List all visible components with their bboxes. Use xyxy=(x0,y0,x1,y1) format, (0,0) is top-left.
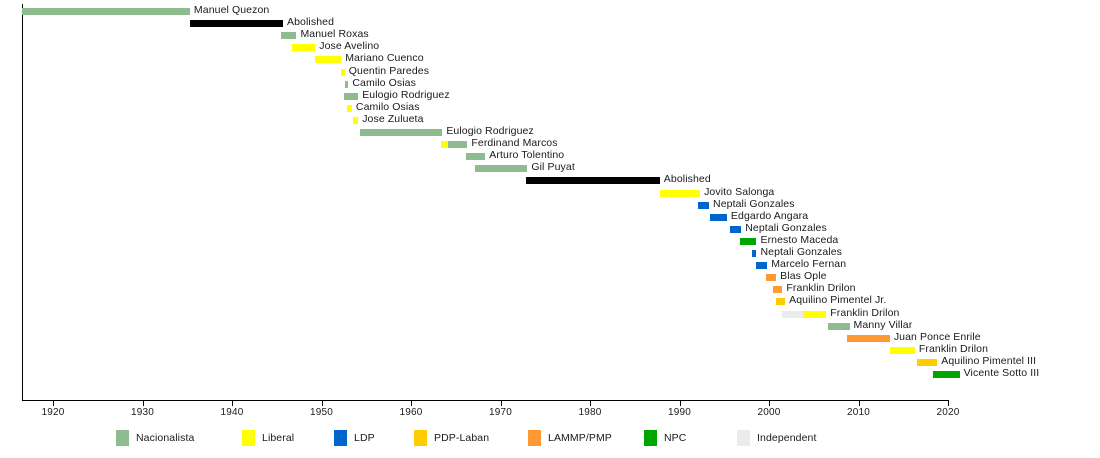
legend-item-liberal[interactable]: Liberal xyxy=(242,428,294,448)
timeline-row: Aquilino Pimentel III xyxy=(0,356,1100,368)
timeline-row-label: Mariano Cuenco xyxy=(345,52,423,64)
legend-color-swatch xyxy=(116,430,129,446)
timeline-row: Jose Avelino xyxy=(0,41,1100,53)
timeline-bar xyxy=(360,129,442,136)
timeline-row: Manuel Roxas xyxy=(0,29,1100,41)
legend-label: LDP xyxy=(354,432,375,444)
x-tick-1970 xyxy=(501,401,502,406)
legend-label: Liberal xyxy=(262,432,294,444)
timeline-row: Neptali Gonzales xyxy=(0,199,1100,211)
timeline-bar xyxy=(773,286,783,293)
timeline-row-label: Manuel Roxas xyxy=(300,28,368,40)
timeline-bar xyxy=(752,250,756,257)
legend-color-swatch xyxy=(242,430,255,446)
timeline-row-label: Jose Avelino xyxy=(319,40,379,52)
timeline-row: Gil Puyat xyxy=(0,162,1100,174)
legend-item-npc[interactable]: NPC xyxy=(644,428,686,448)
timeline-row: Camilo Osias xyxy=(0,78,1100,90)
timeline-bar xyxy=(526,177,659,184)
timeline-row-label: Juan Ponce Enrile xyxy=(894,331,981,343)
x-tick-label: 1980 xyxy=(578,407,601,418)
legend-color-swatch xyxy=(334,430,347,446)
timeline-row-label: Camilo Osias xyxy=(356,101,420,113)
timeline-bar xyxy=(756,262,767,269)
x-tick-1930 xyxy=(143,401,144,406)
timeline-row-label: Eulogio Rodriguez xyxy=(362,89,450,101)
timeline-row: Jovito Salonga xyxy=(0,187,1100,199)
timeline-row-label: Franklin Drilon xyxy=(830,307,899,319)
timeline-row-label: Quentin Paredes xyxy=(349,65,429,77)
timeline-row-label: Edgardo Angara xyxy=(731,210,808,222)
timeline-row-label: Blas Ople xyxy=(780,270,826,282)
x-tick-label: 1950 xyxy=(310,407,333,418)
timeline-row-label: Neptali Gonzales xyxy=(760,246,842,258)
legend-label: Nacionalista xyxy=(136,432,194,444)
timeline-bar xyxy=(828,323,849,330)
timeline-row-label: Abolished xyxy=(664,173,711,185)
x-tick-1980 xyxy=(590,401,591,406)
x-tick-2020 xyxy=(948,401,949,406)
timeline-row-label: Gil Puyat xyxy=(531,161,575,173)
timeline-bar xyxy=(890,347,915,354)
x-tick-label: 2000 xyxy=(757,407,780,418)
timeline-row-label: Ernesto Maceda xyxy=(760,234,838,246)
timeline-row: Manuel Quezon xyxy=(0,5,1100,17)
timeline-bar xyxy=(344,93,358,100)
x-tick-label: 1970 xyxy=(489,407,512,418)
timeline-bar xyxy=(740,238,756,245)
timeline-bar xyxy=(803,311,826,318)
timeline-bar xyxy=(730,226,742,233)
timeline-row-label: Jovito Salonga xyxy=(704,186,774,198)
x-tick-1990 xyxy=(680,401,681,406)
timeline-bar xyxy=(353,117,358,124)
plot-area: 1920193019401950196019701980199020002010… xyxy=(0,0,1100,402)
x-tick-label: 1960 xyxy=(399,407,422,418)
timeline-row: Aquilino Pimentel Jr. xyxy=(0,295,1100,307)
chart-legend: NacionalistaLiberalLDPPDP-LabanLAMMP/PMP… xyxy=(0,428,1100,458)
timeline-bar xyxy=(347,105,351,112)
timeline-bar xyxy=(710,214,727,221)
x-tick-2010 xyxy=(859,401,860,406)
x-tick-1920 xyxy=(53,401,54,406)
timeline-row-label: Manny Villar xyxy=(854,319,913,331)
x-tick-label: 1920 xyxy=(41,407,64,418)
timeline-bar xyxy=(315,56,341,63)
legend-label: LAMMP/PMP xyxy=(548,432,612,444)
timeline-row: Vicente Sotto III xyxy=(0,368,1100,380)
timeline-bar xyxy=(190,20,283,27)
timeline-bar xyxy=(766,274,776,281)
timeline-row-label: Aquilino Pimentel III xyxy=(941,355,1036,367)
timeline-bar xyxy=(281,32,296,39)
timeline-bar xyxy=(345,81,349,88)
timeline-row-label: Jose Zulueta xyxy=(362,113,423,125)
legend-color-swatch xyxy=(528,430,541,446)
timeline-row: Neptali Gonzales xyxy=(0,223,1100,235)
x-tick-2000 xyxy=(769,401,770,406)
timeline-bar xyxy=(448,141,468,148)
timeline-bar xyxy=(22,8,190,15)
legend-label: PDP-Laban xyxy=(434,432,489,444)
timeline-bar xyxy=(933,371,960,378)
legend-item-independent[interactable]: Independent xyxy=(737,428,817,448)
timeline-row-label: Arturo Tolentino xyxy=(489,149,564,161)
legend-color-swatch xyxy=(737,430,750,446)
timeline-row: Ernesto Maceda xyxy=(0,235,1100,247)
timeline-row-label: Abolished xyxy=(287,16,334,28)
x-tick-label: 1930 xyxy=(131,407,154,418)
timeline-bar xyxy=(341,69,345,76)
legend-item-pdp-laban[interactable]: PDP-Laban xyxy=(414,428,489,448)
legend-color-swatch xyxy=(414,430,427,446)
x-tick-label: 2020 xyxy=(936,407,959,418)
timeline-row: Edgardo Angara xyxy=(0,211,1100,223)
timeline-row: Marcelo Fernan xyxy=(0,259,1100,271)
x-axis-line xyxy=(22,400,949,401)
timeline-row: Abolished xyxy=(0,174,1100,186)
timeline-bar xyxy=(475,165,527,172)
timeline-row: Mariano Cuenco xyxy=(0,53,1100,65)
timeline-row-label: Ferdinand Marcos xyxy=(471,137,557,149)
timeline-row-label: Aquilino Pimentel Jr. xyxy=(789,294,886,306)
x-tick-label: 2010 xyxy=(847,407,870,418)
legend-label: Independent xyxy=(757,432,817,444)
timeline-row: Franklin Drilon xyxy=(0,283,1100,295)
legend-item-ldp[interactable]: LDP xyxy=(334,428,375,448)
legend-item-lammp-pmp[interactable]: LAMMP/PMP xyxy=(528,428,612,448)
timeline-row-label: Vicente Sotto III xyxy=(964,367,1040,379)
senate-presidents-timeline-chart: 1920193019401950196019701980199020002010… xyxy=(0,0,1100,458)
timeline-row-label: Franklin Drilon xyxy=(786,282,855,294)
timeline-row-label: Marcelo Fernan xyxy=(771,258,846,270)
timeline-row-label: Franklin Drilon xyxy=(919,343,988,355)
timeline-row: Jose Zulueta xyxy=(0,114,1100,126)
timeline-bar xyxy=(698,202,709,209)
x-tick-label: 1990 xyxy=(668,407,691,418)
timeline-bar xyxy=(660,190,700,197)
x-tick-label: 1940 xyxy=(220,407,243,418)
timeline-row: Blas Ople xyxy=(0,271,1100,283)
timeline-row-label: Manuel Quezon xyxy=(194,4,269,16)
timeline-row: Quentin Paredes xyxy=(0,66,1100,78)
timeline-row-label: Eulogio Rodriguez xyxy=(446,125,534,137)
x-tick-1940 xyxy=(232,401,233,406)
legend-color-swatch xyxy=(644,430,657,446)
timeline-row: Abolished xyxy=(0,17,1100,29)
timeline-bar xyxy=(292,44,315,51)
timeline-row: Camilo Osias xyxy=(0,102,1100,114)
timeline-row-label: Neptali Gonzales xyxy=(713,198,795,210)
timeline-bar xyxy=(776,298,785,305)
x-tick-1950 xyxy=(322,401,323,406)
timeline-row-label: Neptali Gonzales xyxy=(745,222,827,234)
timeline-bar xyxy=(441,141,448,148)
timeline-row: Franklin Drilon xyxy=(0,344,1100,356)
legend-label: NPC xyxy=(664,432,686,444)
timeline-bar xyxy=(917,359,938,366)
timeline-bar xyxy=(782,311,803,318)
timeline-bar xyxy=(466,153,485,160)
timeline-row: Neptali Gonzales xyxy=(0,247,1100,259)
timeline-row: Franklin Drilon xyxy=(0,308,1100,320)
timeline-row-label: Camilo Osias xyxy=(352,77,416,89)
legend-item-nacionalista[interactable]: Nacionalista xyxy=(116,428,194,448)
x-tick-1960 xyxy=(411,401,412,406)
timeline-row: Eulogio Rodriguez xyxy=(0,90,1100,102)
timeline-bar xyxy=(847,335,890,342)
